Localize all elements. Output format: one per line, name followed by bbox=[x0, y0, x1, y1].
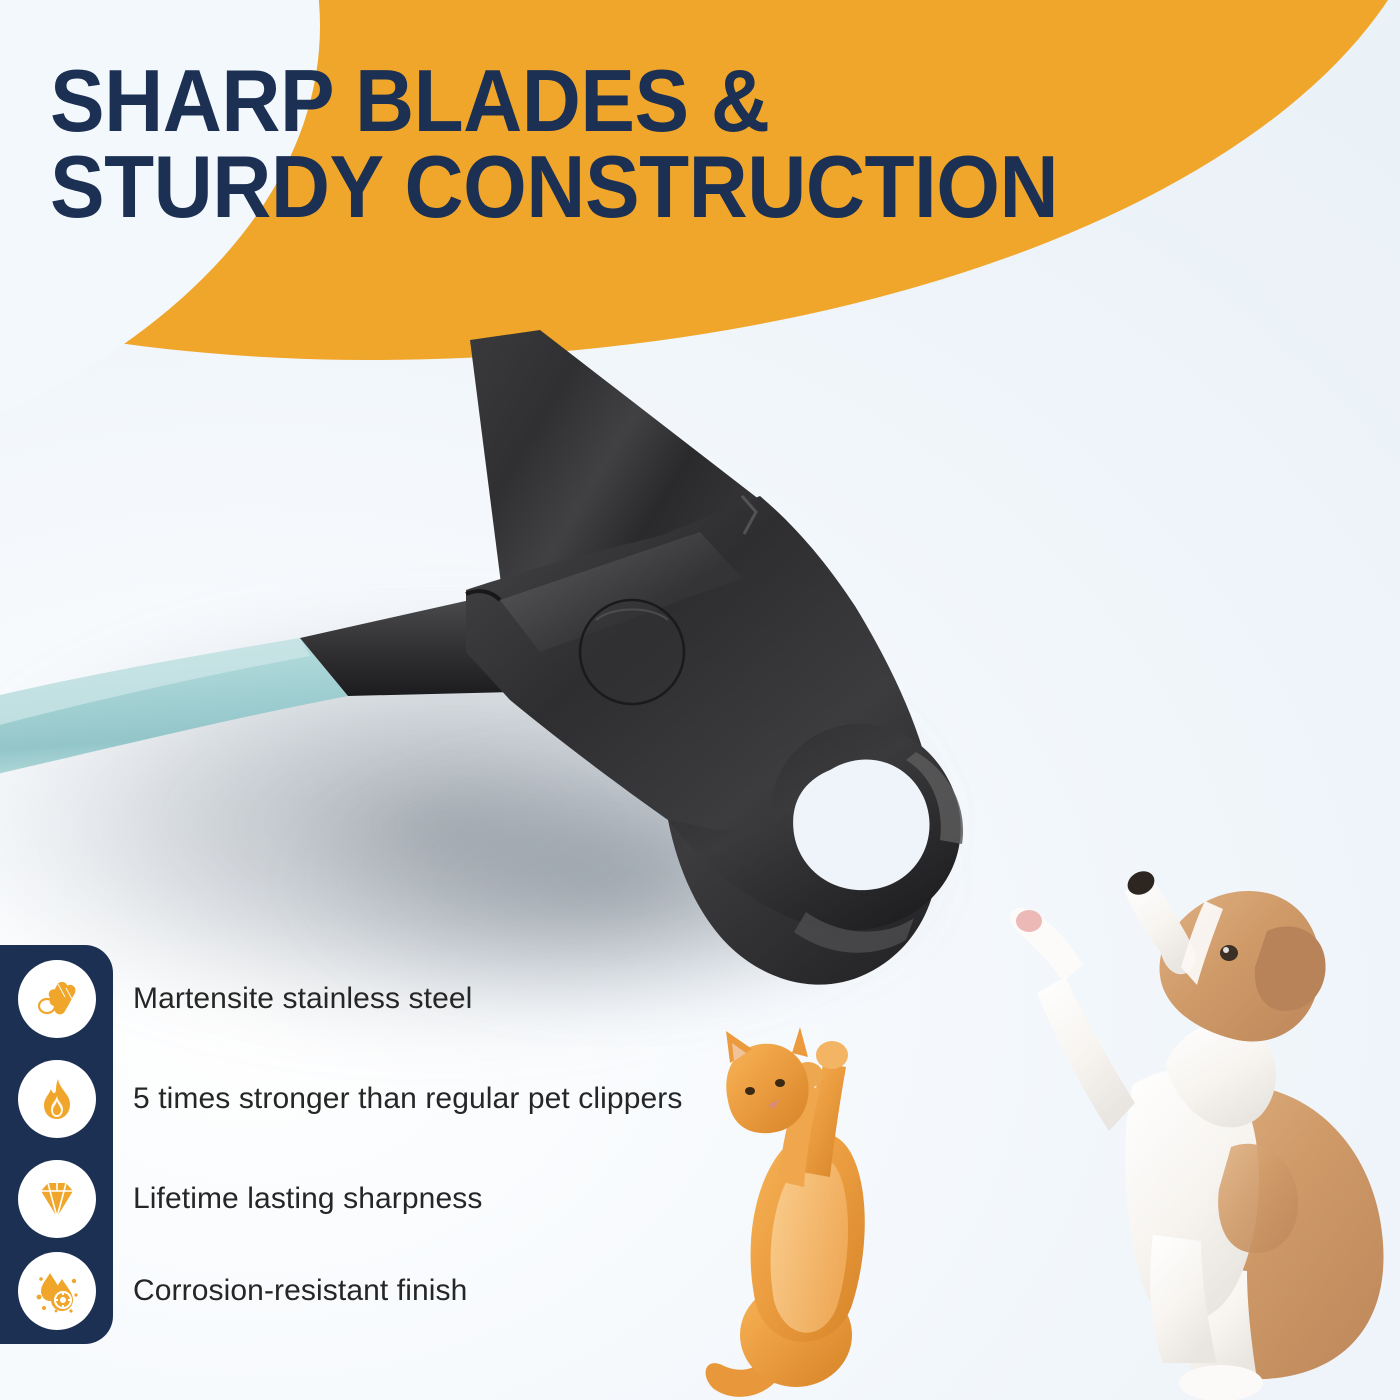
dog-paw-pad bbox=[1016, 910, 1042, 932]
feature-list: Martensite stainless steel 5 times stron… bbox=[0, 945, 760, 1344]
feature-item-corrosion: Corrosion-resistant finish bbox=[0, 1245, 760, 1337]
feature-item-martensite-steel: Martensite stainless steel bbox=[0, 953, 760, 1045]
steel-bars-icon bbox=[33, 975, 81, 1023]
water-drops-gear-icon bbox=[33, 1267, 81, 1315]
dog-eye bbox=[1220, 945, 1238, 961]
flame-icon bbox=[34, 1076, 80, 1122]
cat-ear-right bbox=[792, 1027, 808, 1057]
feature-label: Lifetime lasting sharpness bbox=[133, 1182, 482, 1216]
diamond-icon-badge bbox=[18, 1160, 96, 1238]
steel-bars-icon-badge bbox=[18, 960, 96, 1038]
dog-rear-paw bbox=[1179, 1365, 1263, 1400]
dog-front-leg-raised bbox=[1037, 977, 1135, 1131]
feature-item-sharpness: Lifetime lasting sharpness bbox=[0, 1153, 760, 1245]
dog-ear bbox=[1255, 926, 1326, 1011]
clipper-pivot-fill bbox=[582, 602, 682, 702]
water-drops-gear-icon-badge bbox=[18, 1252, 96, 1330]
feature-label: Corrosion-resistant finish bbox=[133, 1274, 467, 1308]
dog-eye-highlight bbox=[1223, 947, 1229, 953]
cat-eye-right bbox=[775, 1079, 785, 1087]
tan-white-puppy-image bbox=[985, 835, 1400, 1400]
feature-label: 5 times stronger than regular pet clippe… bbox=[133, 1082, 682, 1116]
feature-label: Martensite stainless steel bbox=[133, 982, 472, 1016]
flame-icon-badge bbox=[18, 1060, 96, 1138]
diamond-icon bbox=[34, 1176, 80, 1222]
cat-paw-right bbox=[816, 1041, 848, 1069]
page-title: SHARP BLADES & STURDY CONSTRUCTION bbox=[50, 58, 1147, 230]
product-feature-banner: SHARP BLADES & STURDY CONSTRUCTION bbox=[0, 0, 1400, 1400]
feature-item-strength: 5 times stronger than regular pet clippe… bbox=[0, 1053, 760, 1145]
